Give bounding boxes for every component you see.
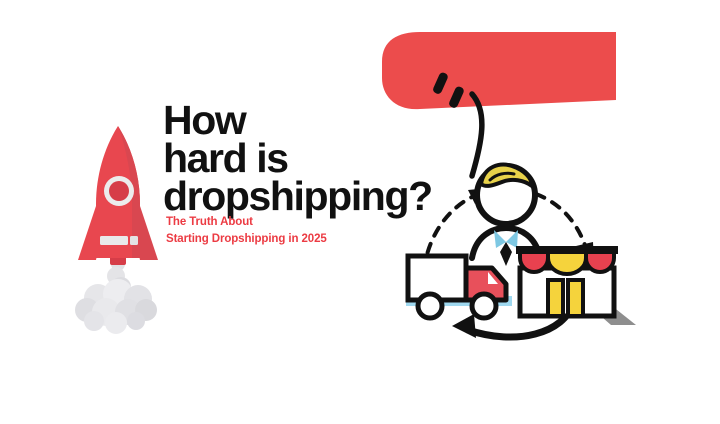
truck-cab-window: [488, 272, 498, 284]
poster-canvas: How hard is dropshipping? The Truth Abou…: [0, 0, 720, 424]
subheadline-line-1: The Truth About: [166, 214, 426, 231]
porthole-window-ring: [104, 176, 134, 206]
person-torso: [472, 228, 540, 258]
person-figure: [472, 165, 540, 266]
rocket-illustration: [58, 118, 178, 343]
store-door-right: [568, 280, 583, 316]
delivery-truck-icon: [406, 256, 512, 318]
person-hair-strand: [490, 173, 514, 180]
rocket-body-shadow: [118, 126, 140, 258]
porthole-window-glass: [109, 181, 129, 201]
solid-arrow-store-to-truck: [452, 302, 574, 338]
truck-cargo-box: [408, 256, 466, 300]
necktie-left: [494, 230, 506, 248]
engine-nozzle: [110, 256, 126, 265]
truck-wheel-rear: [418, 294, 442, 318]
truck-wheel-front: [472, 294, 496, 318]
red-arm-shape: [382, 32, 616, 109]
store-door-left: [548, 280, 563, 316]
dashed-arrow-person-to-store: [536, 194, 594, 262]
store-building: [520, 268, 614, 316]
headline-line-1: How: [163, 101, 443, 139]
right-fin: [134, 206, 158, 260]
necktie-knot: [500, 242, 512, 266]
truck-cab: [466, 268, 506, 300]
truck-chassis: [406, 296, 512, 306]
person-hair: [481, 165, 532, 186]
necktie-right: [506, 230, 518, 248]
awning-scallop-red-right: [586, 252, 614, 272]
awning-scallop-yellow-center: [548, 252, 586, 274]
knuckle-mark-one: [432, 71, 449, 95]
awning-scallop-red-left: [520, 252, 548, 272]
rocket-body: [96, 126, 140, 258]
left-fin: [78, 206, 102, 260]
knuckle-mark-two: [448, 85, 465, 109]
subheadline-line-2: Starting Dropshipping in 2025: [166, 231, 426, 248]
person-head: [477, 166, 535, 224]
storefront-icon: [516, 246, 618, 316]
headline: How hard is dropshipping?: [163, 101, 443, 215]
awning-top-bar: [516, 246, 618, 254]
headline-line-3: dropshipping?: [163, 177, 443, 215]
hanging-cord: [472, 94, 482, 176]
subheadline: The Truth About Starting Dropshipping in…: [166, 214, 426, 248]
stripe-band-right: [130, 236, 138, 245]
headline-line-2: hard is: [163, 139, 443, 177]
ground-shadow: [516, 236, 636, 325]
stripe-band-left: [100, 236, 128, 245]
exhaust-smoke-icon: [75, 257, 157, 334]
